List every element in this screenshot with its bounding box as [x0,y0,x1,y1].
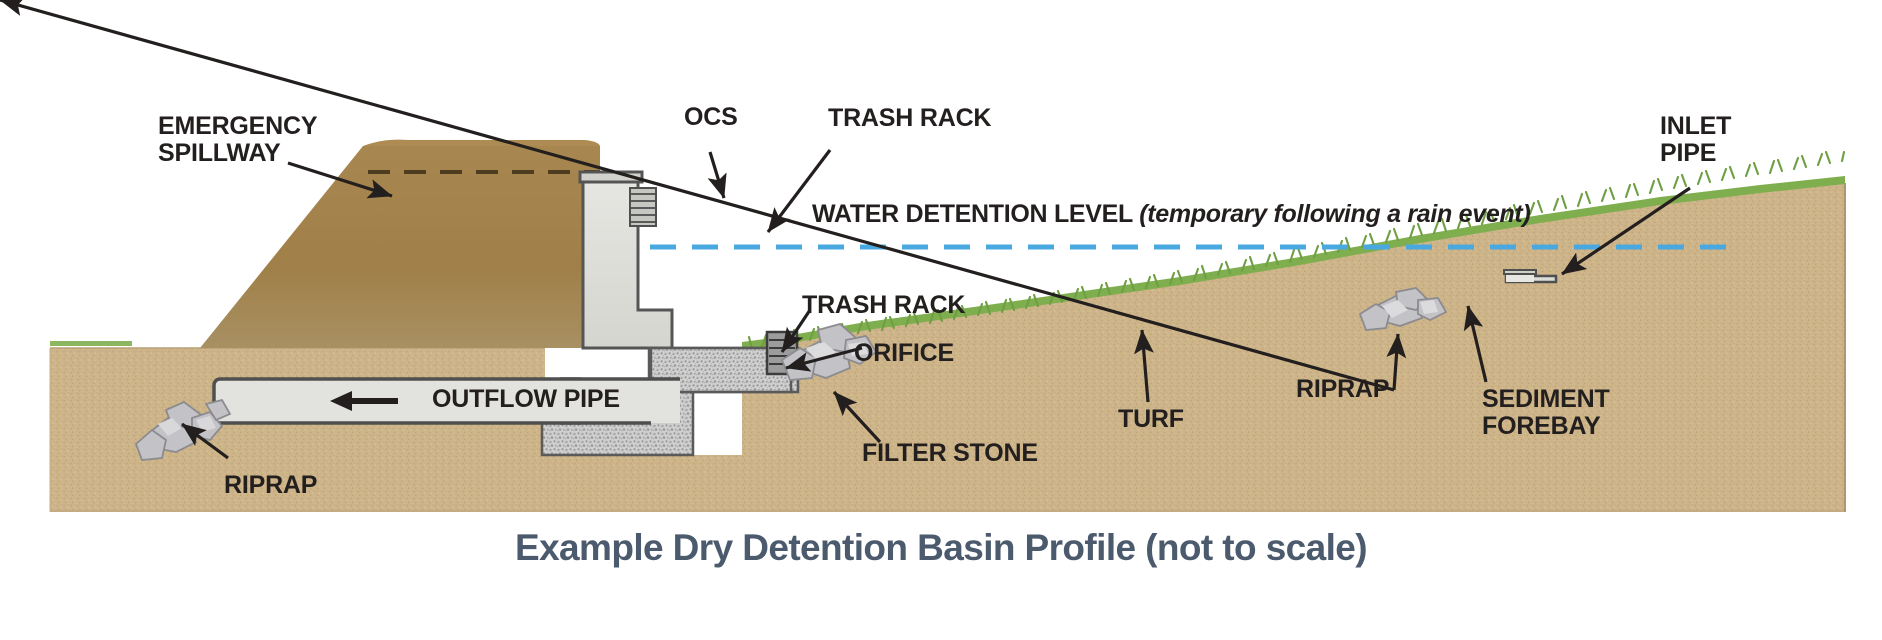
label-water-detention-level: WATER DETENTION LEVEL (temporary followi… [812,200,1531,229]
label-riprap-left: RIPRAP [224,472,317,499]
label-trash-rack-bottom: TRASH RACK [802,292,965,319]
label-ocs: OCS [684,104,738,131]
label-turf: TURF [1118,406,1184,433]
label-trash-rack-top: TRASH RACK [828,105,991,132]
figure-caption: Example Dry Detention Basin Profile (not… [0,527,1882,569]
label-riprap-right: RIPRAP [1296,376,1389,403]
label-filter-stone: FILTER STONE [862,440,1038,467]
leader-ocs [710,152,724,198]
water-detention-level-note: (temporary following a rain event) [1139,200,1530,228]
trash-rack-upper [630,188,656,226]
water-detention-level-title: WATER DETENTION LEVEL [812,200,1133,228]
label-emergency-spillway: EMERGENCY SPILLWAY [158,113,317,166]
diagram-canvas: EMERGENCY SPILLWAY OCS TRASH RACK WATER … [0,0,1882,640]
label-inlet-pipe: INLET PIPE [1660,113,1731,166]
label-outflow-pipe: OUTFLOW PIPE [432,386,620,413]
embankment-berm [200,140,600,348]
label-sediment-forebay: SEDIMENT FOREBAY [1482,386,1610,439]
label-orifice: ORIFICE [854,340,954,367]
leader-riprap-right [0,0,1394,390]
